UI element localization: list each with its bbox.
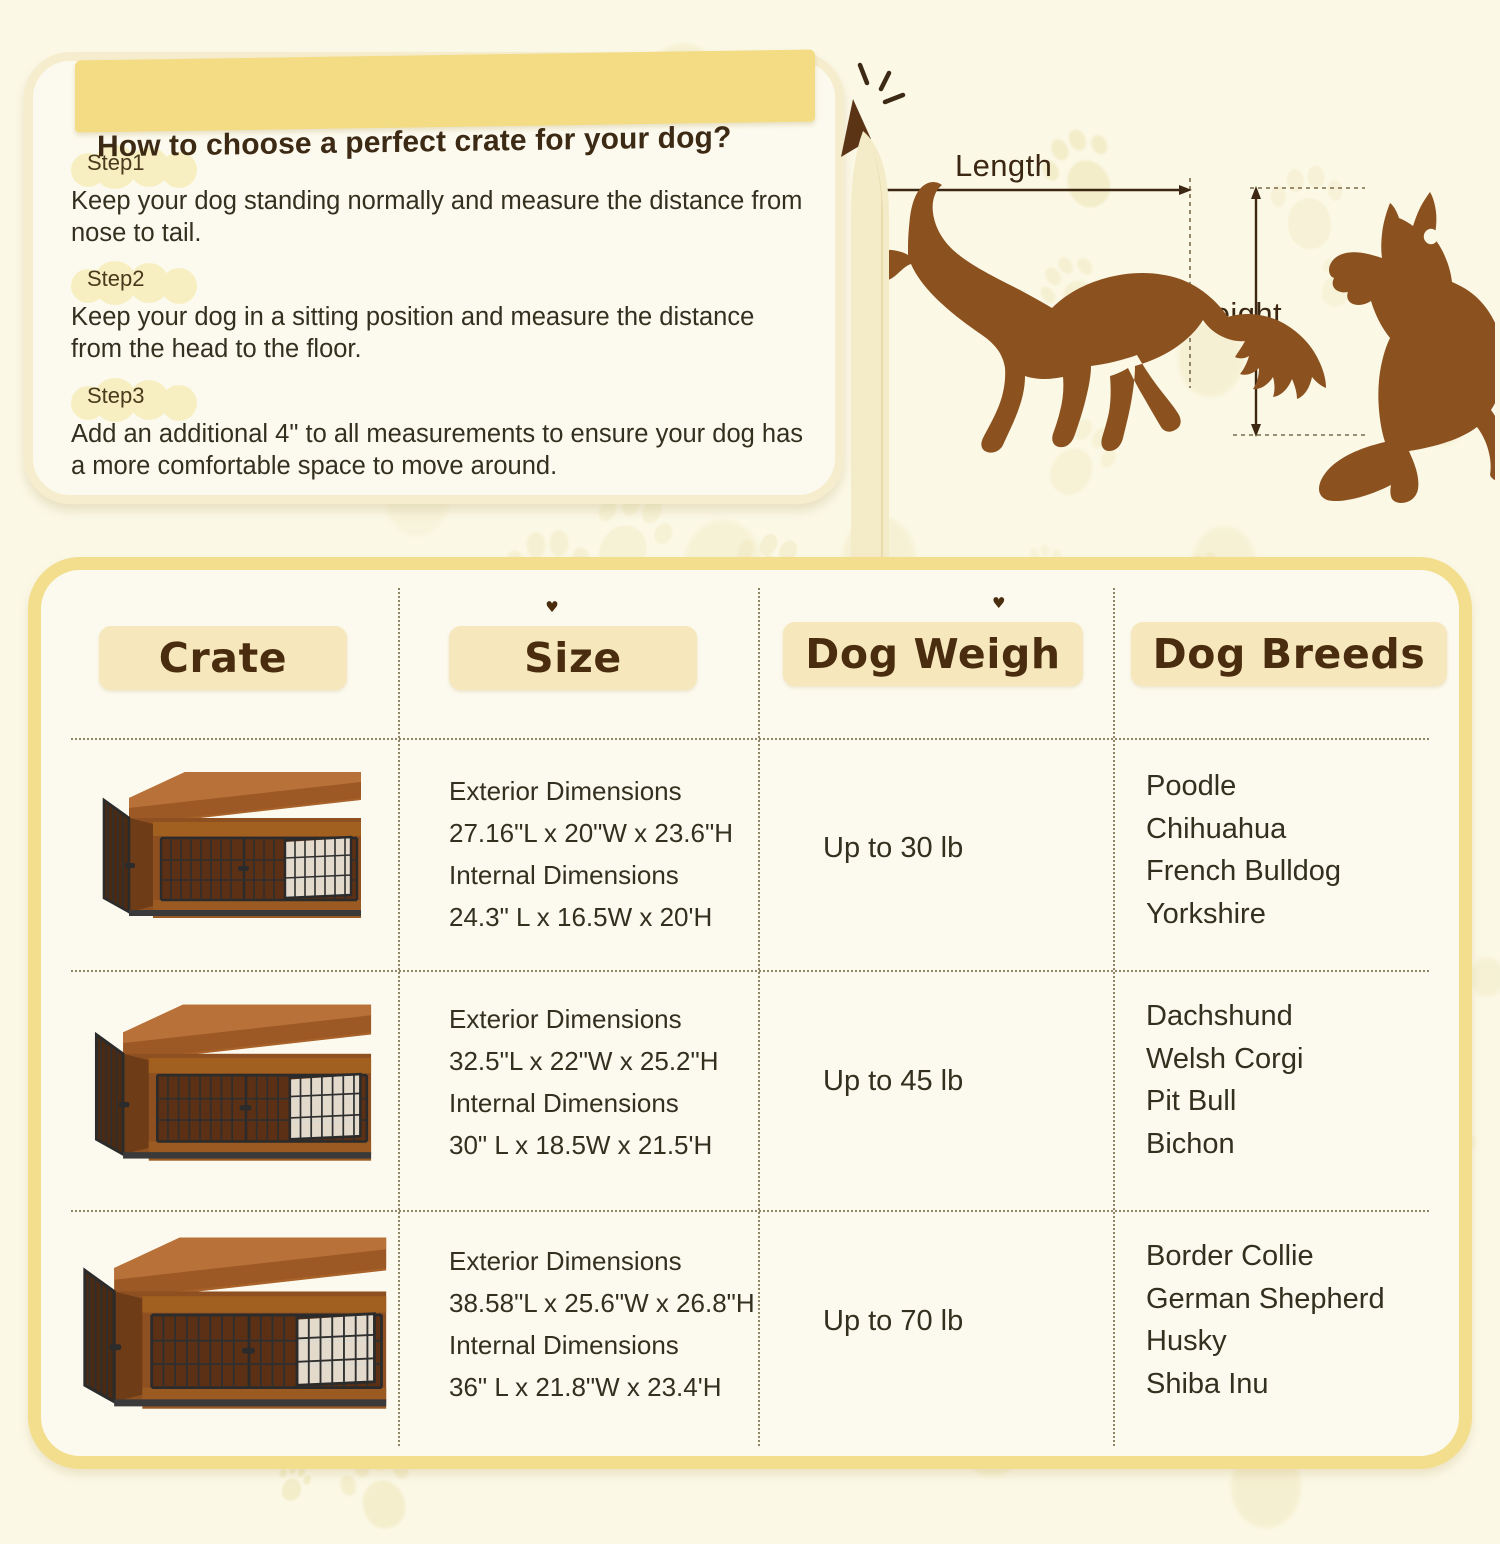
breed-item: Dachshund (1146, 995, 1303, 1038)
header-dog-breeds-label: Dog Breeds (1153, 630, 1426, 678)
heart-dot-icon: ♥ (545, 600, 559, 615)
weight-cell-row-1: Up to 30 lb (823, 832, 963, 865)
size-line: 38.58"L x 25.6"W x 26.8"H (449, 1282, 755, 1324)
step-1-text: Keep your dog standing normally and meas… (71, 185, 811, 249)
step-badge-2: Step2 (71, 263, 161, 296)
size-line: 24.3" L x 16.5W x 20'H (449, 896, 733, 938)
size-table: Crate Si♥ze Dog Weig♥h Dog Breeds (28, 557, 1472, 1469)
sitting-dog-silhouette (1319, 192, 1495, 503)
breed-item: Chihuahua (1146, 808, 1341, 851)
paw-blob-icon (1470, 957, 1500, 997)
size-cell-row-2: Exterior Dimensions 32.5"L x 22"W x 25.2… (449, 998, 719, 1166)
size-cell-row-3: Exterior Dimensions 38.58"L x 25.6"W x 2… (449, 1240, 755, 1408)
breed-item: Shiba Inu (1146, 1363, 1385, 1406)
breeds-cell-row-1: Poodle Chihuahua French Bulldog Yorkshir… (1146, 765, 1341, 936)
row-divider-2 (71, 1210, 1429, 1212)
size-line: 36" L x 21.8"W x 23.4'H (449, 1366, 755, 1408)
header-size: Si♥ze (449, 626, 697, 690)
crate-image-large (79, 1220, 419, 1438)
breeds-cell-row-3: Border Collie German Shepherd Husky Shib… (1146, 1235, 1385, 1406)
height-measure-arrow (1233, 186, 1365, 437)
breed-item: French Bulldog (1146, 850, 1341, 893)
breed-item: Pit Bull (1146, 1080, 1303, 1123)
header-dog-weigh: Dog Weig♥h (783, 622, 1083, 686)
pencil-icon (805, 45, 925, 605)
header-crate: Crate (99, 626, 347, 690)
measurement-diagram: Length Height (845, 120, 1495, 520)
breed-item: Border Collie (1146, 1235, 1385, 1278)
heart-dot-icon: ♥ (992, 596, 1006, 611)
size-cell-row-1: Exterior Dimensions 27.16"L x 20"W x 23.… (449, 770, 733, 938)
step-3-text: Add an additional 4" to all measurements… (71, 418, 811, 482)
row-divider-1 (71, 970, 1429, 972)
column-divider-3 (1113, 588, 1115, 1446)
crate-image-small (99, 760, 389, 940)
breed-item: Poodle (1146, 765, 1341, 808)
size-line: 30" L x 18.5W x 21.5'H (449, 1124, 719, 1166)
instruction-card: How to choose a perfect crate for your d… (24, 52, 844, 504)
steps-list: Step1 Keep your dog standing normally an… (69, 147, 811, 496)
size-line: Exterior Dimensions (449, 998, 719, 1040)
header-dog-weigh-label: Dog Weig♥h (805, 630, 1060, 678)
size-line: 27.16"L x 20"W x 23.6"H (449, 812, 733, 854)
title-banner (75, 50, 815, 133)
crate-image-medium (91, 988, 401, 1188)
step-badge-2-label: Step2 (87, 266, 145, 291)
row-divider-header (71, 738, 1429, 740)
breed-item: Yorkshire (1146, 893, 1341, 936)
header-dog-breeds: Dog Breeds (1131, 622, 1447, 686)
size-line: Internal Dimensions (449, 1082, 719, 1124)
breed-item: German Shepherd (1146, 1278, 1385, 1321)
weight-cell-row-3: Up to 70 lb (823, 1305, 963, 1338)
breed-item: Welsh Corgi (1146, 1038, 1303, 1081)
size-line: Exterior Dimensions (449, 1240, 755, 1282)
step-2-text: Keep your dog in a sitting position and … (71, 301, 811, 365)
size-line: 32.5"L x 22"W x 25.2"H (449, 1040, 719, 1082)
step-badge-3: Step3 (71, 380, 161, 413)
header-crate-label: Crate (159, 634, 287, 682)
breed-item: Bichon (1146, 1123, 1303, 1166)
breeds-cell-row-2: Dachshund Welsh Corgi Pit Bull Bichon (1146, 995, 1303, 1166)
column-divider-2 (758, 588, 760, 1446)
header-size-label: Si♥ze (524, 634, 622, 682)
step-badge-3-label: Step3 (87, 383, 145, 408)
size-line: Internal Dimensions (449, 1324, 755, 1366)
weight-cell-row-2: Up to 45 lb (823, 1065, 963, 1098)
size-line: Internal Dimensions (449, 854, 733, 896)
size-line: Exterior Dimensions (449, 770, 733, 812)
breed-item: Husky (1146, 1320, 1385, 1363)
